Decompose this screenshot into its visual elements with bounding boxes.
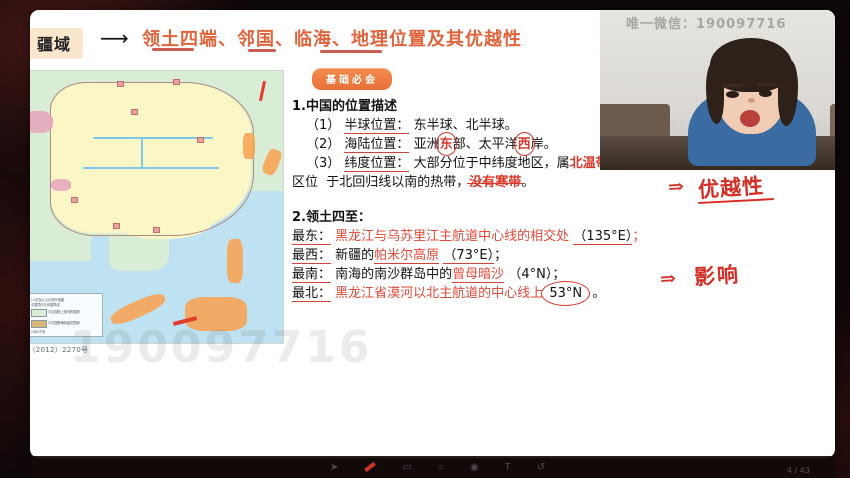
teacher-video-overlay[interactable]: 唯一微信：190097716 <box>600 10 835 170</box>
row-text-plain: 南海的南沙群岛中的 <box>335 267 452 282</box>
map-city-marker <box>153 227 160 233</box>
coordinate-circle-mark <box>541 281 590 306</box>
map-city-marker <box>113 223 120 229</box>
wrap-prefix: 区位 <box>292 175 318 190</box>
map-city-marker <box>173 79 180 85</box>
circled-mark-east: 东 <box>440 135 453 154</box>
row-text-highlight: 帕米尔高原 <box>374 248 439 264</box>
circled-mark-west: 西 <box>518 135 531 154</box>
title-underline-1 <box>152 48 194 51</box>
pen-icon[interactable] <box>364 462 376 473</box>
map-korea <box>243 133 255 159</box>
text-icon[interactable]: T <box>505 462 511 473</box>
item-number: （1） <box>306 118 340 133</box>
video-person-bangs <box>716 50 786 78</box>
row-text-highlight: 曾母暗沙 <box>452 267 504 283</box>
china-location-map: 1:1亿及以上比例尺地图 中国境内与邻国界线 与中国陆上相邻的国家 与中国隔海相… <box>30 70 284 344</box>
map-approval-caption: GS（2012）2270号 <box>30 345 88 355</box>
title-underline-2 <box>248 49 276 52</box>
video-person-mouth <box>740 110 760 127</box>
section2-row-east: 最东： 黑龙江与乌苏里江主航道中心线的相交处 （135°E）； <box>292 227 835 246</box>
row-text: 黑龙江与乌苏里江主航道中心线的相交处 <box>335 229 569 244</box>
item-label: 半球位置： <box>344 118 409 134</box>
row-text: 黑龙江省漠河以北主航道的中心线上 <box>335 286 543 301</box>
map-legend-text: 与中国隔海相望的国家 <box>48 320 80 325</box>
map-city-marker <box>131 109 138 115</box>
map-capital-marker <box>197 137 204 143</box>
topic-tag-badge: 疆域 <box>30 28 83 59</box>
map-city-marker <box>71 197 78 203</box>
basics-required-pill: 基础必会 <box>312 68 392 90</box>
influence-note-text: 影响 <box>693 258 741 291</box>
map-city-marker <box>117 81 124 87</box>
video-person-nose <box>748 98 755 103</box>
influence-note-arrow-icon: ⇒ <box>659 267 676 290</box>
video-person-brow-left <box>724 84 743 87</box>
undo-icon[interactable]: ↺ <box>537 462 545 473</box>
map-legend-swatch-sea-neighbor <box>31 320 47 328</box>
row-label: 最南： <box>292 267 331 283</box>
row-coordinate: （73°E） <box>443 248 494 264</box>
map-china-border <box>50 82 254 236</box>
map-legend: 1:1亿及以上比例尺地图 中国境内与邻国界线 与中国陆上相邻的国家 与中国隔海相… <box>30 293 103 337</box>
advantage-note-arrow-icon: ⇒ <box>667 175 684 198</box>
map-yangtze-river <box>83 167 219 169</box>
video-person-eye-left <box>726 91 739 98</box>
item-label: 纬度位置： <box>344 156 409 172</box>
map-philippines <box>227 239 243 283</box>
map-borneo <box>185 297 247 331</box>
map-legend-swatch-land-neighbor <box>31 309 47 317</box>
section2-heading: 2.领土四至： <box>292 206 835 225</box>
row-tail: ； <box>632 229 645 244</box>
struck-mark-no-frigid-zone: 没有寒带 <box>469 175 521 190</box>
cursor-icon[interactable]: ➤ <box>330 462 338 473</box>
map-highland-west <box>30 111 53 133</box>
wrap-body: 于北回归线以南的热带， <box>326 175 469 190</box>
page-indicator: 4 / 43 <box>787 466 810 475</box>
item-label: 海陆位置： <box>344 137 409 153</box>
row-tail: ； <box>552 267 565 282</box>
annotation-toolbar[interactable]: ➤ ▭ ○ ◉ T ↺ <box>30 456 835 478</box>
item-number: （3） <box>306 156 340 171</box>
map-legend-text: 中国境内与邻国界线 <box>31 302 60 307</box>
video-person-brow-right <box>757 83 776 86</box>
item-body: 东半球、北半球。 <box>414 118 518 133</box>
eraser-icon[interactable]: ▭ <box>402 462 411 473</box>
row-text-plain: 新疆的 <box>335 248 374 263</box>
shape-icon[interactable]: ○ <box>438 462 444 473</box>
map-yellow-river <box>93 137 213 139</box>
map-legend-text: 与中国陆上相邻的国家 <box>48 309 80 314</box>
row-tail: 。 <box>592 286 605 301</box>
section2-row-north: 最北： 黑龙江省漠河以北主航道的中心线上 53°N 。 <box>292 284 835 303</box>
item-body: 大部分位于中纬度地区，属 <box>414 156 570 171</box>
map-river-branch <box>141 137 143 169</box>
title-underline-3 <box>320 50 382 53</box>
page-title: 领土四端、邻国、临海、地理位置及其优越性 <box>142 25 522 51</box>
video-person-eye-right <box>759 90 772 97</box>
row-coordinate: （135°E） <box>573 229 632 245</box>
row-label: 最西： <box>292 248 331 264</box>
section2-row-west: 最西： 新疆的帕米尔高原 （73°E）； <box>292 246 835 265</box>
row-label: 最东： <box>292 229 331 245</box>
item-body: 部、太平洋 <box>453 137 518 152</box>
row-label: 最北： <box>292 286 331 302</box>
map-legend-scale: 0 800千米 <box>31 329 45 334</box>
video-watermark: 唯一微信：190097716 <box>626 13 786 32</box>
row-tail: ； <box>494 248 507 263</box>
row-coordinate: （4°N） <box>508 267 552 282</box>
map-highland-sw <box>51 179 71 191</box>
header-arrow-icon: ⟶ <box>100 27 129 51</box>
laser-icon[interactable]: ◉ <box>470 462 479 473</box>
item-number: （2） <box>306 137 340 152</box>
slide-sheet: 疆域 ⟶ 领土四端、邻国、临海、地理位置及其优越性 <box>30 10 835 458</box>
